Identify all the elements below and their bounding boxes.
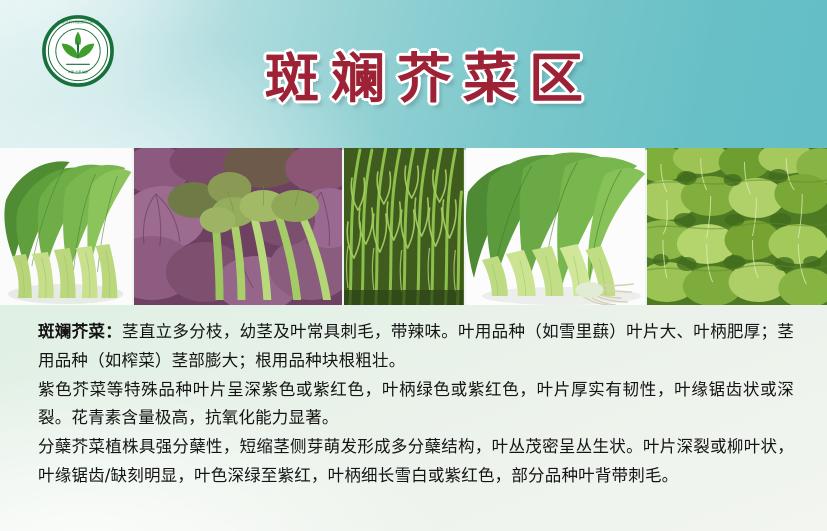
photo-curly-mustard-field <box>647 148 827 305</box>
photo-shredded-leaf-mustard <box>344 148 463 305</box>
paragraph-3: 分蘖芥菜植株具强分蘖性，短缩茎侧芽萌发形成多分蘖结构，叶丛茂密呈丛生状。叶片深裂… <box>38 433 794 490</box>
photo-strip <box>0 148 827 305</box>
curly-mustard-field-illustration <box>647 148 827 305</box>
green-mustard-bunch-illustration <box>0 148 132 305</box>
description-text: 斑斓芥菜：茎直立多分枝，幼茎及叶常具刺毛，带辣味。叶用品种（如雪里蕻）叶片大、叶… <box>38 318 794 491</box>
paragraph-1: 斑斓芥菜：茎直立多分枝，幼茎及叶常具刺毛，带辣味。叶用品种（如雪里蕻）叶片大、叶… <box>38 318 794 375</box>
shredded-mustard-illustration <box>344 148 463 305</box>
page-title: 斑斓芥菜区 <box>215 52 645 106</box>
poster-root: 中国农业科学院蔬菜花卉研究所 中蔬 力源 创新 斑斓芥菜区 <box>0 0 827 531</box>
lead-label: 斑斓芥菜： <box>38 322 122 341</box>
photo-mustard-with-roots <box>466 148 645 305</box>
seal-icon: 中国农业科学院蔬菜花卉研究所 中蔬 力源 创新 <box>41 14 115 88</box>
svg-text:中蔬 力源 创新: 中蔬 力源 创新 <box>68 69 88 74</box>
paragraph-2: 紫色芥菜等特殊品种叶片呈深紫色或紫红色，叶柄绿色或紫红色，叶片厚实有韧性，叶缘锯… <box>38 376 794 433</box>
institute-logo: 中国农业科学院蔬菜花卉研究所 中蔬 力源 创新 <box>41 14 115 88</box>
paragraph-1-text: 茎直立多分枝，幼茎及叶常具刺毛，带辣味。叶用品种（如雪里蕻）叶片大、叶柄肥厚；茎… <box>38 322 794 370</box>
svg-text:中国农业科学院蔬菜花卉研究所: 中国农业科学院蔬菜花卉研究所 <box>57 19 99 24</box>
photo-green-mustard-bunch <box>0 148 132 305</box>
purple-mustard-illustration <box>134 148 342 305</box>
photo-purple-mustard-field <box>134 148 342 305</box>
mustard-with-roots-illustration <box>466 148 645 305</box>
